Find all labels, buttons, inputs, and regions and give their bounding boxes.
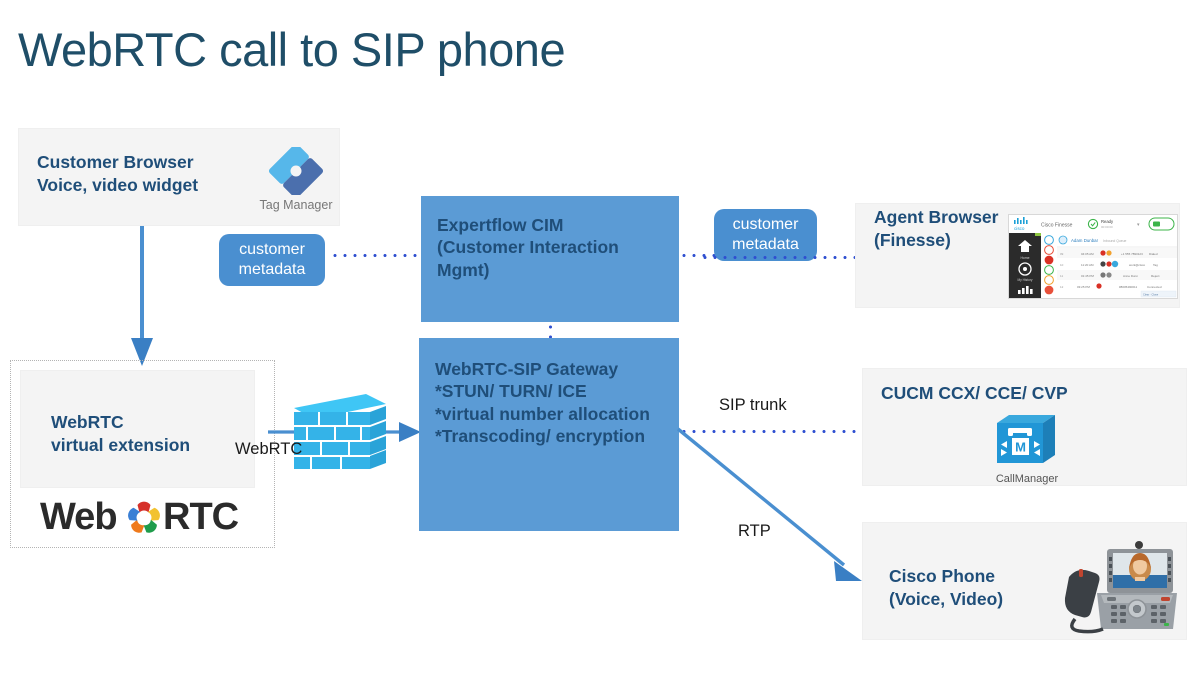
pill-customer-metadata-left[interactable]: customer metadata bbox=[219, 234, 325, 286]
svg-text:10: 10 bbox=[1060, 263, 1064, 267]
svg-text:Home: Home bbox=[1020, 256, 1029, 260]
callmanager-icon: M CallManager bbox=[991, 411, 1071, 479]
arrow-rtp-gateway-to-phone bbox=[676, 425, 866, 590]
svg-text:cisco: cisco bbox=[1014, 226, 1025, 231]
dotted-connector-metadata-to-cim bbox=[330, 254, 422, 257]
svg-text:#8005490011: #8005490011 bbox=[1119, 285, 1137, 289]
svg-text:Tag: Tag bbox=[1153, 263, 1158, 267]
webrtc-extension-label: WebRTC virtual extension bbox=[51, 411, 190, 457]
svg-text:My History: My History bbox=[1017, 278, 1032, 282]
svg-text:Connected: Connected bbox=[1147, 285, 1162, 289]
svg-text:Reject: Reject bbox=[1151, 274, 1160, 278]
finesse-screenshot-thumbnail: cisco Cisco Finesse Ready 00:00:00 ▾ Hom… bbox=[1008, 214, 1178, 299]
cisco-phone-label: Cisco Phone (Voice, Video) bbox=[889, 565, 1003, 611]
svg-text:Adam Dunbar: Adam Dunbar bbox=[1071, 238, 1099, 243]
edge-label-sip-trunk: SIP trunk bbox=[719, 396, 787, 415]
dotted-connector-cim-to-gateway bbox=[549, 322, 552, 338]
node-customer-browser[interactable]: Customer Browser Voice, video widget Tag… bbox=[18, 128, 340, 226]
webrtc-logo-text-right: RTC bbox=[163, 496, 238, 539]
node-expertflow-cim[interactable]: Expertflow CIM (Customer Interaction Mgm… bbox=[421, 196, 679, 322]
node-webrtc-sip-gateway[interactable]: WebRTC-SIP Gateway *STUN/ TURN/ ICE *vir… bbox=[419, 338, 679, 531]
svg-text:09: 09 bbox=[1060, 252, 1064, 256]
agent-browser-label: Agent Browser (Finesse) bbox=[874, 206, 998, 252]
webrtc-logo-text-left: Web bbox=[40, 496, 117, 539]
callmanager-caption: CallManager bbox=[991, 473, 1063, 485]
tag-manager-icon: Tag Manager bbox=[256, 147, 336, 209]
customer-browser-label: Customer Browser Voice, video widget bbox=[37, 151, 198, 197]
svg-text:00:00:00: 00:00:00 bbox=[1101, 225, 1113, 229]
svg-text:03:25 PM: 03:25 PM bbox=[1077, 285, 1090, 289]
expertflow-cim-label: Expertflow CIM (Customer Interaction Mgm… bbox=[437, 214, 673, 281]
svg-text:11: 11 bbox=[1060, 274, 1063, 278]
webrtc-pinwheel-icon: Web RTC bbox=[40, 496, 240, 540]
svg-text:Clear · Close: Clear · Close bbox=[1143, 292, 1159, 296]
svg-text:M: M bbox=[1015, 440, 1026, 455]
webrtc-pinwheel-glyph bbox=[124, 498, 164, 538]
page-title: WebRTC call to SIP phone bbox=[18, 22, 565, 77]
svg-text:work@cisco: work@cisco bbox=[1129, 263, 1146, 267]
firewall-icon bbox=[288, 386, 392, 478]
node-cisco-phone[interactable]: Cisco Phone (Voice, Video) bbox=[862, 522, 1187, 640]
edge-label-rtp: RTP bbox=[738, 522, 771, 541]
edge-label-webrtc: WebRTC bbox=[235, 440, 302, 459]
diagram-canvas: WebRTC call to SIP phone Customer Browse… bbox=[0, 0, 1198, 673]
svg-text:Ready: Ready bbox=[1101, 219, 1114, 224]
cucm-label: CUCM CCX/ CCE/ CVP bbox=[881, 382, 1068, 405]
svg-text:▾: ▾ bbox=[1137, 222, 1140, 228]
arrow-browser-to-extension bbox=[122, 226, 162, 368]
node-cucm[interactable]: CUCM CCX/ CCE/ CVP M bbox=[862, 368, 1187, 486]
svg-text:12: 12 bbox=[1060, 285, 1064, 289]
node-webrtc-extension[interactable]: WebRTC virtual extension bbox=[20, 370, 255, 488]
svg-text:Cisco Finesse: Cisco Finesse bbox=[1041, 223, 1073, 229]
svg-text:11:20 AM: 11:20 AM bbox=[1081, 263, 1094, 267]
tag-manager-caption: Tag Manager bbox=[256, 198, 336, 212]
svg-text:+1 555 7890123: +1 555 7890123 bbox=[1121, 252, 1143, 256]
webrtc-sip-gateway-label: WebRTC-SIP Gateway *STUN/ TURN/ ICE *vir… bbox=[435, 358, 667, 448]
dotted-connector-metadata-to-agent bbox=[700, 256, 855, 259]
node-agent-browser[interactable]: Agent Browser (Finesse) cisco Cisco Fine… bbox=[855, 203, 1180, 308]
cisco-ip-phone-icon bbox=[1051, 531, 1179, 635]
pill-customer-metadata-right[interactable]: customer metadata bbox=[714, 209, 817, 261]
svg-text:01:45 PM: 01:45 PM bbox=[1081, 274, 1094, 278]
svg-text:Anne Dunn: Anne Dunn bbox=[1123, 274, 1138, 278]
svg-text:Dialed: Dialed bbox=[1149, 252, 1158, 256]
svg-text:04:05 AM: 04:05 AM bbox=[1081, 252, 1094, 256]
svg-text:Inbound Queue: Inbound Queue bbox=[1103, 239, 1126, 243]
